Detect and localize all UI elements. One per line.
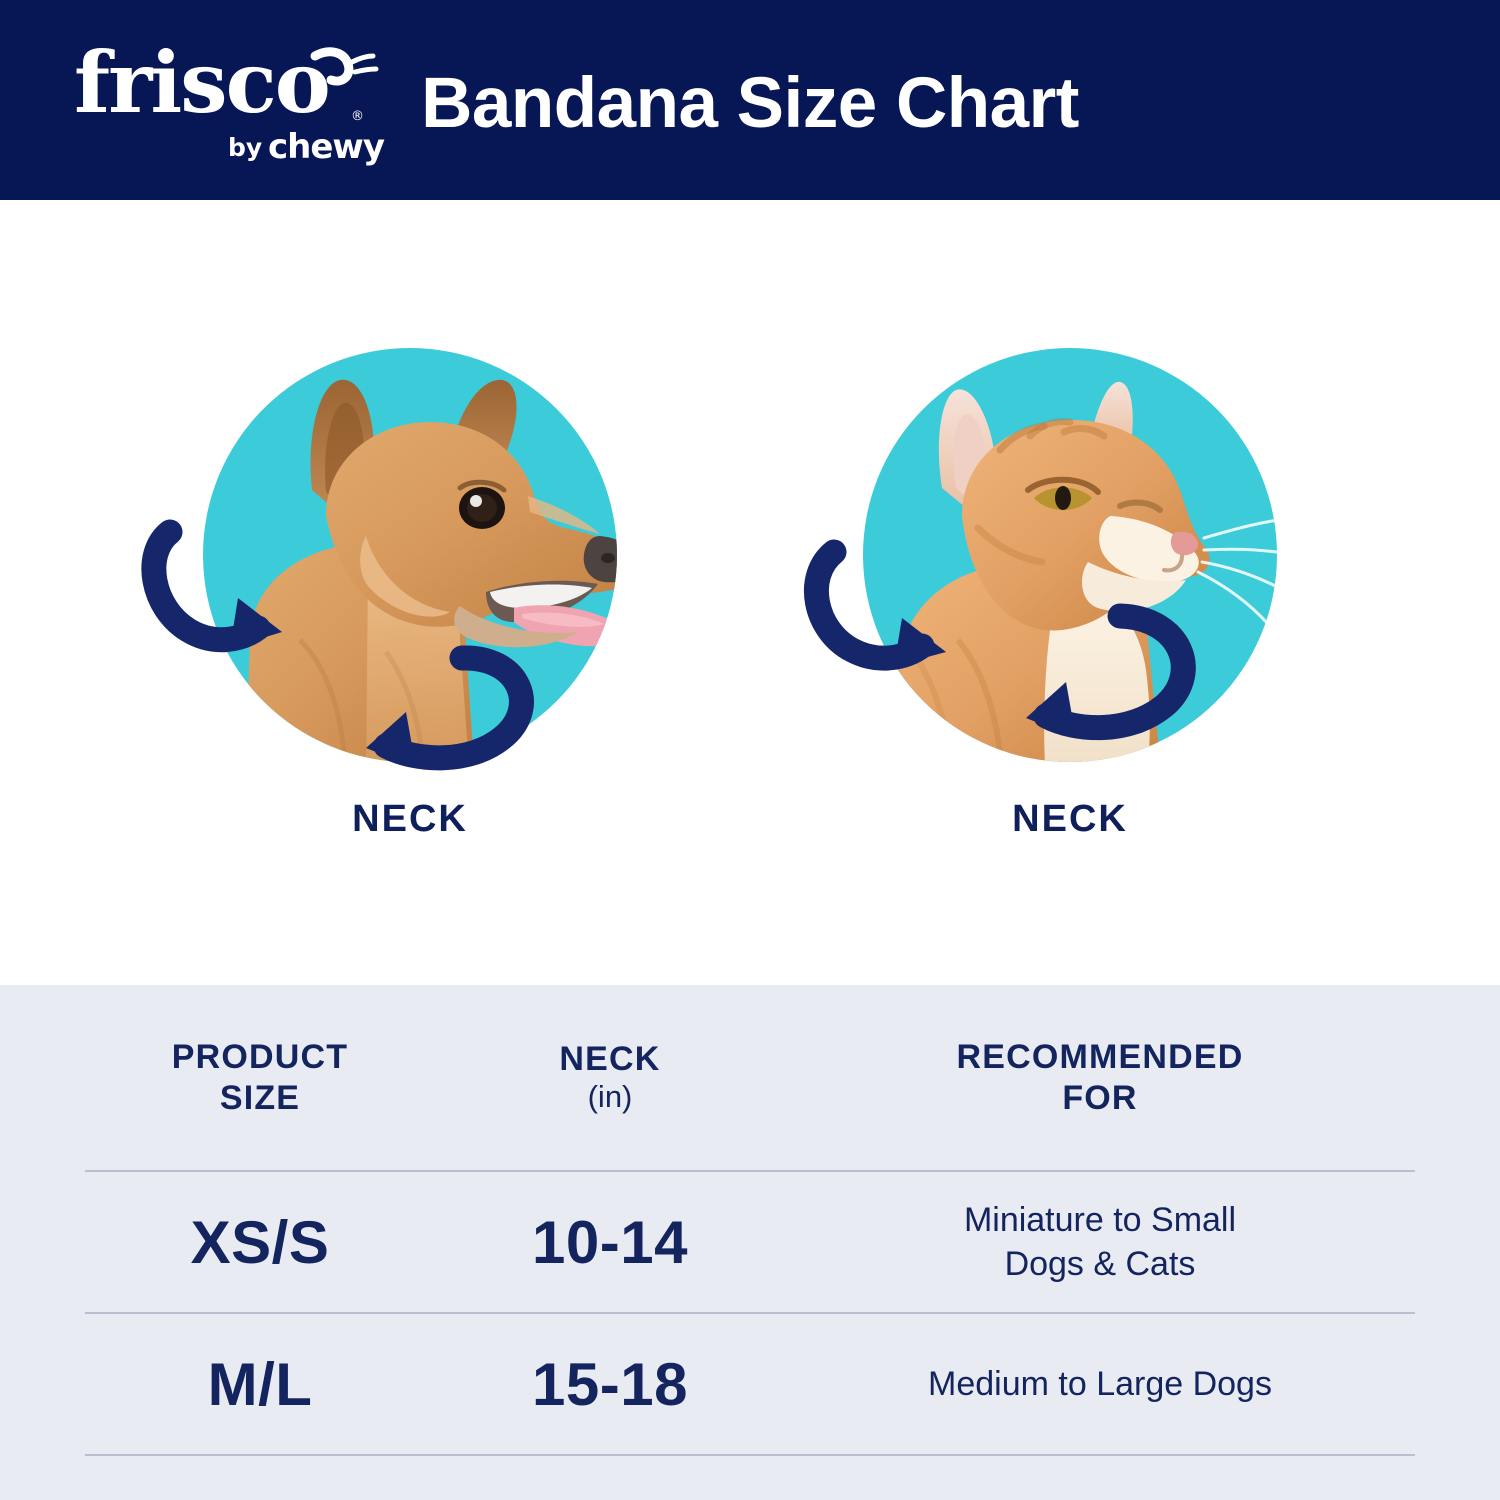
- cat-measure-block: NECK: [790, 340, 1350, 841]
- table-divider: [85, 1454, 1415, 1456]
- dog-neck-label: NECK: [130, 798, 690, 841]
- table-row: M/L 15-18 Medium to Large Dogs: [85, 1314, 1415, 1454]
- column-header-recommended-for: RECOMMENDED FOR: [785, 1037, 1415, 1117]
- cell-recommended-for: Medium to Large Dogs: [785, 1362, 1415, 1406]
- pet-illustrations-section: NECK: [0, 200, 1500, 985]
- cat-neck-label: NECK: [790, 798, 1350, 841]
- cell-neck: 10-14: [435, 1208, 785, 1277]
- table-row: XS/S 10-14 Miniature to Small Dogs & Cat…: [85, 1172, 1415, 1312]
- cell-recommended-for-line1: Miniature to Small: [964, 1201, 1236, 1239]
- dog-head-photo: [130, 340, 690, 790]
- column-header-product-size: PRODUCT SIZE: [85, 1037, 435, 1117]
- table-header-row: PRODUCT SIZE NECK (in) RECOMMENDED FOR: [85, 985, 1415, 1170]
- cell-product-size: M/L: [85, 1350, 435, 1419]
- column-header-recommended-for-line1: RECOMMENDED: [956, 1038, 1243, 1076]
- size-chart-page: frisco ® by chewy Bandana Size Chart: [0, 0, 1500, 1500]
- size-table: PRODUCT SIZE NECK (in) RECOMMENDED FOR X…: [85, 985, 1415, 1456]
- header-band: frisco ® by chewy Bandana Size Chart: [0, 0, 1500, 200]
- column-header-recommended-for-line2: FOR: [1062, 1079, 1137, 1117]
- column-header-product-size-line2: SIZE: [220, 1079, 300, 1117]
- cell-neck: 15-18: [435, 1350, 785, 1419]
- page-title: Bandana Size Chart: [0, 0, 1500, 200]
- dog-measure-block: NECK: [130, 340, 690, 841]
- column-header-neck: NECK (in): [435, 1039, 785, 1116]
- size-table-panel: PRODUCT SIZE NECK (in) RECOMMENDED FOR X…: [0, 985, 1500, 1500]
- cell-recommended-for-line1: Medium to Large Dogs: [928, 1365, 1272, 1403]
- cell-recommended-for: Miniature to Small Dogs & Cats: [785, 1198, 1415, 1286]
- cell-product-size: XS/S: [85, 1208, 435, 1277]
- column-header-product-size-line1: PRODUCT: [172, 1038, 349, 1076]
- cell-recommended-for-line2: Dogs & Cats: [785, 1242, 1415, 1286]
- column-header-neck-unit: (in): [435, 1079, 785, 1116]
- cat-head-photo: [790, 340, 1350, 790]
- column-header-neck-line1: NECK: [559, 1040, 660, 1078]
